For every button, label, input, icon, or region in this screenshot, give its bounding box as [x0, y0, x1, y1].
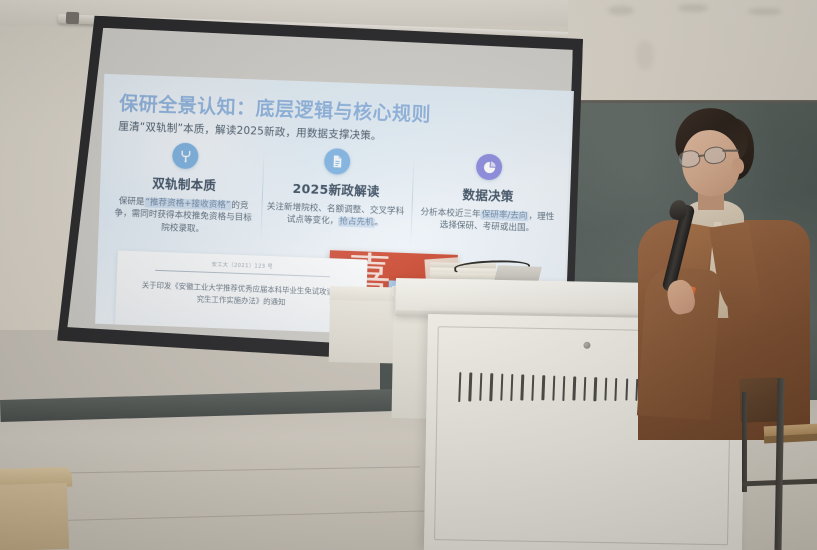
column-2-heading: 2025新政解读	[292, 178, 380, 200]
student-desk-left-front	[0, 483, 69, 550]
column-2-body: 关注新增院校、名额调整、交叉学科试点等变化，抢占先机。	[265, 201, 406, 231]
slide-column-2: 2025新政解读 关注新增院校、名额调整、交叉学科试点等变化，抢占先机。	[258, 146, 414, 252]
classroom-photo: 保研全景认知：底层逻辑与核心规则 厘清“双轨制”本质，解读2025新政，用数据支…	[0, 0, 817, 550]
column-3-body: 分析本校近三年保研率/去向，理性选择保研、考研或出国。	[417, 206, 558, 236]
desk-leg-right-rear	[742, 392, 747, 492]
column-1-heading: 双轨制本质	[152, 173, 217, 194]
column-3-highlight: 保研率/去向	[480, 210, 528, 222]
fork-branch-icon	[172, 142, 199, 169]
column-1-body: 保研是“推荐资格+接收资格”的竞争，需同时获得本校推免资格与目标院校录取。	[112, 195, 253, 237]
column-2-body-pre: 关注新增院校、名额调整、交叉学科试点等变化，	[267, 202, 405, 227]
column-1-highlight: “推荐资格+接收资格”	[144, 197, 231, 210]
slide-column-1: 双轨制本质 保研是“推荐资格+接收资格”的竞争，需同时获得本校推免资格与目标院校…	[106, 140, 262, 246]
slide-columns: 双轨制本质 保研是“推荐资格+接收资格”的竞争，需同时获得本校推免资格与目标院校…	[106, 140, 565, 257]
column-3-body-pre: 分析本校近三年	[420, 208, 480, 220]
column-2-body-post: 。	[374, 218, 383, 228]
column-3-heading: 数据决策	[462, 184, 514, 205]
document-icon	[324, 148, 351, 175]
column-2-highlight: 抢占先机	[338, 217, 375, 228]
pie-chart-icon	[476, 154, 503, 181]
column-1-body-pre: 保研是	[118, 196, 144, 207]
slide-column-3: 数据决策 分析本校近三年保研率/去向，理性选择保研、考研或出国。	[410, 151, 566, 257]
